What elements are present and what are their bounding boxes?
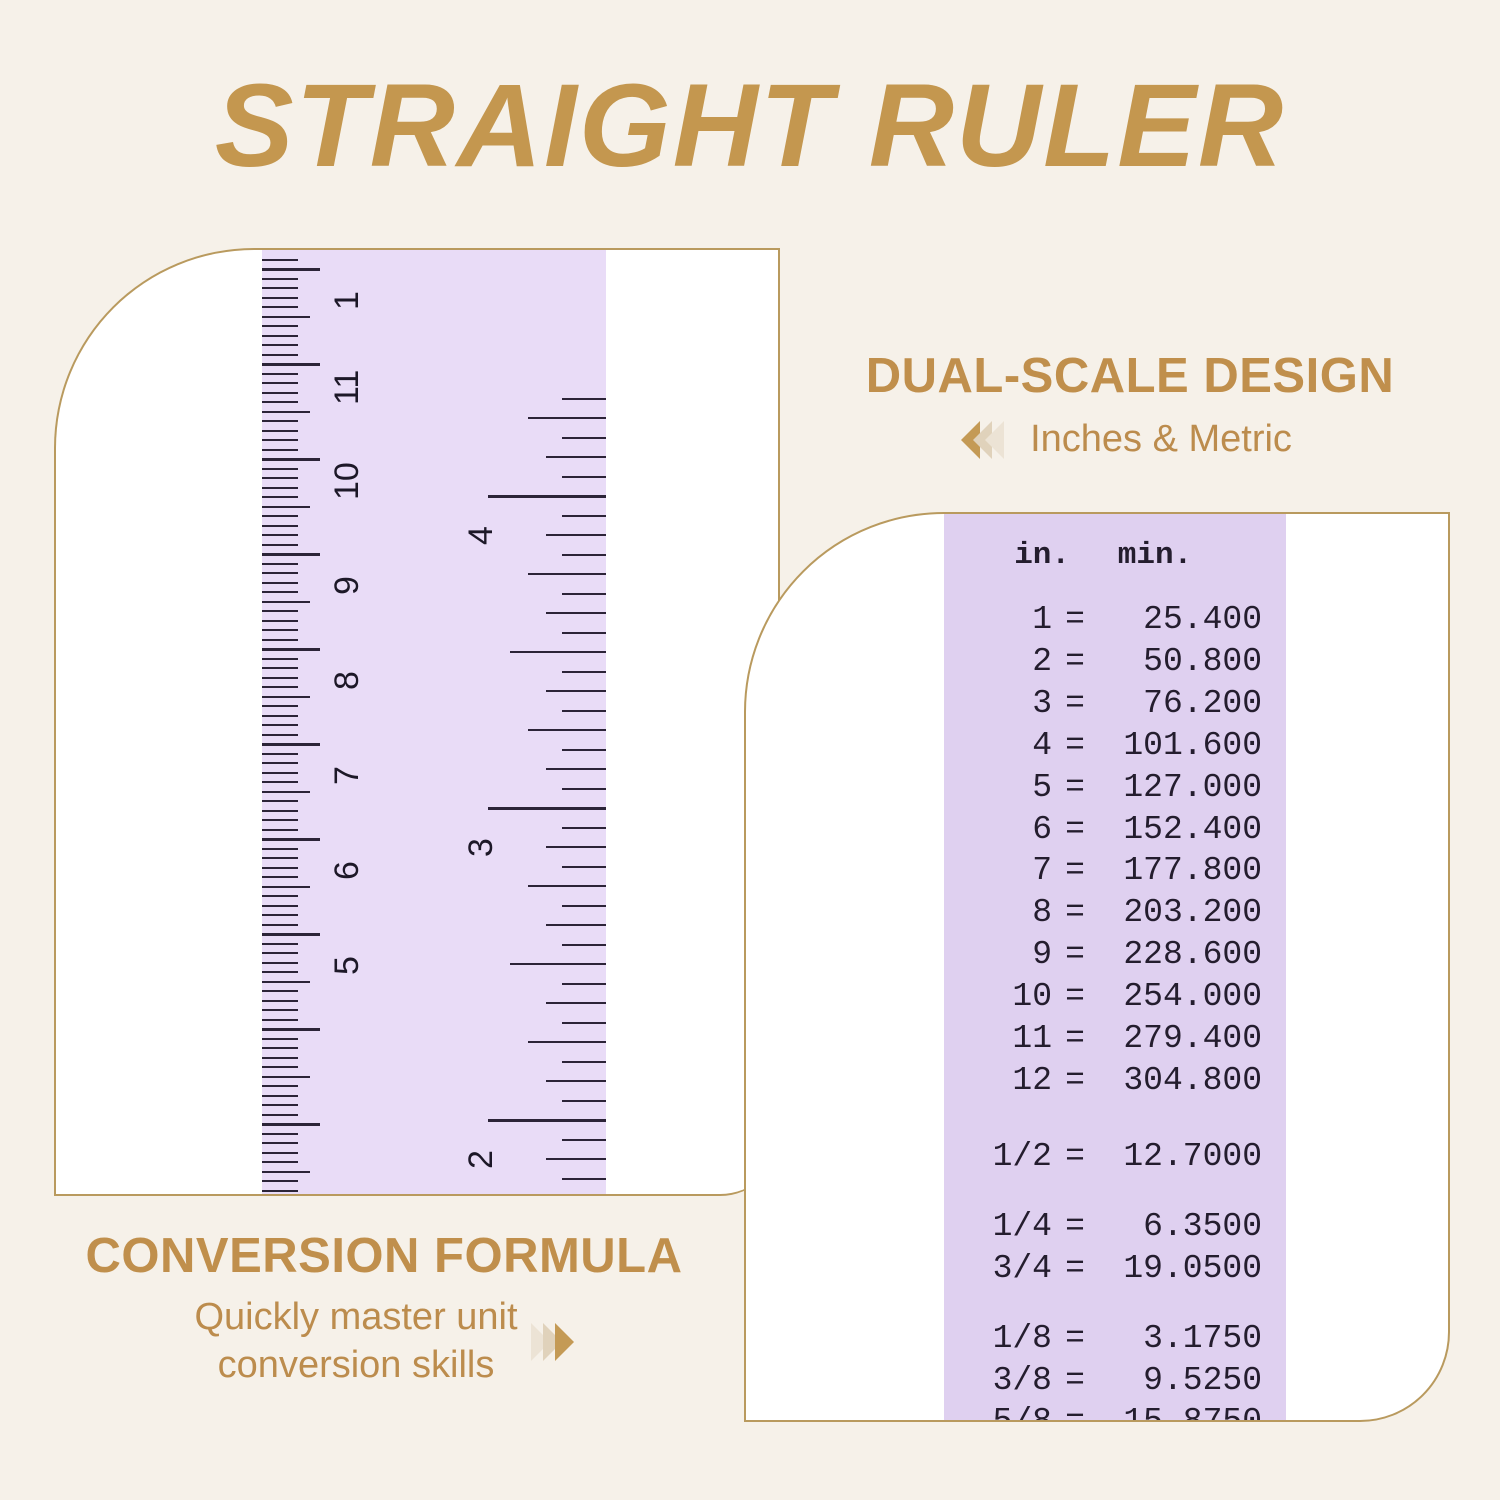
conversion-table-header: in. min. (944, 514, 1286, 599)
ruler-tick (262, 553, 320, 556)
ruler-tick (262, 857, 298, 859)
ruler-tick (488, 1119, 606, 1122)
ruler-number: 3 (462, 838, 501, 857)
cell-equals: = (1052, 1360, 1098, 1402)
ruler-tick (262, 914, 298, 916)
ruler-tick (262, 1180, 298, 1182)
ruler-tick (488, 495, 606, 498)
ruler-tick (262, 563, 298, 565)
ruler-tick (262, 420, 298, 422)
ruler-tick (262, 952, 298, 954)
cell-equals: = (1052, 892, 1098, 934)
ruler-tick (546, 924, 606, 926)
ruler-tick (262, 572, 298, 574)
ruler-tick (262, 933, 320, 936)
ruler-tick (528, 573, 606, 575)
dual-scale-subtitle: Inches & Metric (1030, 418, 1292, 461)
ruler-tick (488, 807, 606, 810)
ruler-tick (262, 990, 298, 992)
ruler-tick (262, 534, 298, 536)
ruler-tick (528, 885, 606, 887)
ruler-number: 7 (328, 766, 367, 785)
ruler-tick (262, 819, 298, 821)
cell-equals: = (1052, 1060, 1098, 1102)
ruler-number: 5 (328, 956, 367, 975)
ruler-tick (528, 417, 606, 419)
ruler-tick (262, 601, 310, 603)
table-row: 1=25.400 (944, 599, 1286, 641)
table-row: 10=254.000 (944, 976, 1286, 1018)
ruler-tick (262, 506, 310, 508)
ruler-tick (546, 456, 606, 458)
cell-millimeters: 76.200 (1098, 683, 1278, 725)
ruler-number: 8 (328, 671, 367, 690)
ruler-tick (528, 729, 606, 731)
cell-equals: = (1052, 934, 1098, 976)
column-header-millimeters: min. (1070, 538, 1240, 573)
ruler-tick (262, 496, 298, 498)
ruler-tick (546, 1158, 606, 1160)
table-row: 1/4=6.3500 (944, 1206, 1286, 1248)
ruler-tick (562, 827, 606, 829)
ruler-tick (262, 1152, 298, 1154)
cell-inches: 5 (944, 767, 1052, 809)
cell-inches: 1/2 (944, 1136, 1052, 1178)
ruler-tick (528, 1041, 606, 1043)
cell-millimeters: 279.400 (1098, 1018, 1278, 1060)
ruler-tick (262, 268, 320, 271)
cell-inches: 1 (944, 599, 1052, 641)
ruler-tick (262, 848, 298, 850)
ruler-number: 1 (328, 291, 367, 310)
ruler-tick (262, 458, 320, 461)
ruler-tick (546, 612, 606, 614)
cell-millimeters: 19.0500 (1098, 1248, 1278, 1290)
cell-equals: = (1052, 850, 1098, 892)
ruler-tick (262, 1095, 298, 1097)
ruler-tick (262, 259, 298, 261)
cell-inches: 3/4 (944, 1248, 1052, 1290)
ruler-tick (562, 1139, 606, 1141)
conversion-table-body: 1=25.4002=50.8003=76.2004=101.6005=127.0… (944, 599, 1286, 1420)
ruler-tick (546, 1002, 606, 1004)
ruler-tick (546, 846, 606, 848)
ruler-tick (262, 544, 298, 546)
table-row: 1/2=12.7000 (944, 1136, 1286, 1178)
ruler-tick (262, 306, 298, 308)
cell-inches: 1/4 (944, 1206, 1052, 1248)
ruler-tick (262, 1019, 298, 1021)
ruler-tick (262, 677, 298, 679)
ruler-tick (262, 1190, 298, 1192)
ruler-tick (262, 610, 298, 612)
ruler-tick (262, 639, 298, 641)
ruler-tick (562, 788, 606, 790)
ruler-tick (262, 1038, 298, 1040)
ruler-tick (262, 648, 320, 651)
ruler-tick (262, 772, 298, 774)
ruler-tick (262, 1000, 298, 1002)
ruler-tick (262, 316, 310, 318)
ruler-tick (562, 866, 606, 868)
ruler-tick (262, 667, 298, 669)
cell-inches: 5/8 (944, 1401, 1052, 1420)
cell-inches: 7 (944, 850, 1052, 892)
cell-millimeters: 203.200 (1098, 892, 1278, 934)
ruler-tick (262, 981, 310, 983)
ruler-tick (562, 1100, 606, 1102)
ruler-tick (262, 1047, 298, 1049)
cell-equals: = (1052, 725, 1098, 767)
ruler-tick (262, 895, 298, 897)
ruler-tick (562, 944, 606, 946)
conversion-table-image: in. min. 1=25.4002=50.8003=76.2004=101.6… (944, 514, 1286, 1420)
cell-inches: 10 (944, 976, 1052, 1018)
cell-millimeters: 228.600 (1098, 934, 1278, 976)
ruler-tick (262, 1142, 298, 1144)
page-title: STRAIGHT RULER (0, 58, 1500, 194)
ruler-tick (262, 468, 298, 470)
cell-millimeters: 152.400 (1098, 809, 1278, 851)
dual-scale-heading: DUAL-SCALE DESIGN (820, 348, 1440, 404)
ruler-tick (510, 963, 606, 965)
ruler-tick (546, 534, 606, 536)
ruler-tick (262, 1028, 320, 1031)
ruler-tick (562, 398, 606, 400)
ruler-tick (262, 1104, 298, 1106)
conversion-formula-subtitle: Quickly master unit conversion skills (194, 1294, 517, 1389)
ruler-tick (262, 1123, 320, 1126)
ruler-tick (262, 829, 298, 831)
cell-equals: = (1052, 641, 1098, 683)
ruler-tick (262, 886, 310, 888)
conversion-subtitle-line-2: conversion skills (218, 1344, 495, 1386)
column-header-inches: in. (944, 538, 1070, 573)
conversion-table: in. min. 1=25.4002=50.8003=76.2004=101.6… (944, 514, 1286, 1420)
ruler-number: 4 (462, 526, 501, 545)
cell-millimeters: 9.5250 (1098, 1360, 1278, 1402)
cell-inches: 4 (944, 725, 1052, 767)
table-group-spacer (944, 1290, 1286, 1318)
cell-equals: = (1052, 1318, 1098, 1360)
ruler-tick (546, 1080, 606, 1082)
ruler-tick (262, 392, 298, 394)
ruler-tick (262, 477, 298, 479)
ruler-tick (562, 671, 606, 673)
conversion-subtitle-line-1: Quickly master unit (194, 1296, 517, 1338)
ruler-tick (262, 487, 298, 489)
ruler-tick (262, 753, 298, 755)
ruler-number: 11 (328, 370, 367, 405)
cell-inches: 3 (944, 683, 1052, 725)
ruler-tick (546, 768, 606, 770)
cell-equals: = (1052, 683, 1098, 725)
cell-equals: = (1052, 1136, 1098, 1178)
ruler-tick (262, 287, 298, 289)
ruler-tick (262, 344, 298, 346)
table-row: 5=127.000 (944, 767, 1286, 809)
ruler-tick (262, 943, 298, 945)
table-group-spacer (944, 1102, 1286, 1136)
ruler-tick (262, 971, 298, 973)
ruler-tick (262, 591, 298, 593)
cell-millimeters: 101.600 (1098, 725, 1278, 767)
ruler-tick (262, 658, 298, 660)
table-row: 12=304.800 (944, 1060, 1286, 1102)
cell-millimeters: 15.8750 (1098, 1401, 1278, 1420)
ruler-tick (262, 810, 298, 812)
table-row: 6=152.400 (944, 809, 1286, 851)
ruler-tick (262, 325, 298, 327)
ruler-number: 9 (328, 576, 367, 595)
cell-millimeters: 25.400 (1098, 599, 1278, 641)
ruler-tick (262, 800, 298, 802)
ruler-number: 6 (328, 861, 367, 880)
ruler-tick (262, 1057, 298, 1059)
ruler-tick (562, 632, 606, 634)
ruler-tick (262, 582, 298, 584)
table-row: 8=203.200 (944, 892, 1286, 934)
ruler-tick (262, 696, 310, 698)
ruler-tick (546, 690, 606, 692)
cell-equals: = (1052, 1401, 1098, 1420)
ruler-tick (562, 476, 606, 478)
cell-millimeters: 12.7000 (1098, 1136, 1278, 1178)
ruler-tick (262, 743, 320, 746)
table-group-spacer (944, 1178, 1286, 1206)
ruler-tick (262, 363, 320, 366)
cell-millimeters: 177.800 (1098, 850, 1278, 892)
table-row: 7=177.800 (944, 850, 1286, 892)
cell-inches: 6 (944, 809, 1052, 851)
cell-inches: 1/8 (944, 1318, 1052, 1360)
ruler-tick (262, 1133, 298, 1135)
ruler-tick (562, 983, 606, 985)
cell-inches: 9 (944, 934, 1052, 976)
cell-inches: 12 (944, 1060, 1052, 1102)
table-row: 3=76.200 (944, 683, 1286, 725)
ruler-tick (262, 724, 298, 726)
ruler-tick (262, 1085, 298, 1087)
ruler-tick (262, 1009, 298, 1011)
table-row: 3/8=9.5250 (944, 1360, 1286, 1402)
cell-inches: 2 (944, 641, 1052, 683)
ruler-tick (262, 867, 298, 869)
ruler-tick (262, 335, 298, 337)
dual-scale-feature: DUAL-SCALE DESIGN Inches & Metric (820, 348, 1440, 461)
table-row: 9=228.600 (944, 934, 1286, 976)
cell-equals: = (1052, 1248, 1098, 1290)
ruler-tick (562, 905, 606, 907)
ruler-tick (262, 297, 298, 299)
ruler-tick (262, 838, 320, 841)
ruler-tick (562, 710, 606, 712)
ruler-number: 2 (462, 1150, 501, 1169)
ruler-tick (262, 278, 298, 280)
table-row: 3/4=19.0500 (944, 1248, 1286, 1290)
ruler-tick (262, 354, 298, 356)
ruler-tick (562, 1178, 606, 1180)
cell-millimeters: 50.800 (1098, 641, 1278, 683)
cell-equals: = (1052, 1018, 1098, 1060)
ruler-tick (262, 1114, 298, 1116)
ruler-tick (562, 515, 606, 517)
ruler-tick (262, 1076, 310, 1078)
ruler-tick (562, 437, 606, 439)
ruler-tick (262, 905, 298, 907)
ruler-tick (510, 651, 606, 653)
ruler-tick (262, 762, 298, 764)
ruler-tick (262, 924, 298, 926)
table-row: 1/8=3.1750 (944, 1318, 1286, 1360)
ruler-tick (262, 1171, 310, 1173)
conversion-formula-feature: CONVERSION FORMULA Quickly master unit c… (34, 1228, 734, 1389)
ruler-tick (262, 962, 298, 964)
table-row: 4=101.600 (944, 725, 1286, 767)
ruler-tick (262, 876, 298, 878)
chevron-left-icon (968, 421, 1004, 459)
ruler-tick (262, 449, 298, 451)
ruler-tick (262, 686, 298, 688)
ruler-tick (262, 629, 298, 631)
table-row: 11=279.400 (944, 1018, 1286, 1060)
ruler-tick (262, 620, 298, 622)
ruler-tick (262, 515, 298, 517)
cell-millimeters: 3.1750 (1098, 1318, 1278, 1360)
ruler-tick (262, 373, 298, 375)
ruler-tick (262, 525, 298, 527)
ruler-tick (562, 1061, 606, 1063)
table-row: 2=50.800 (944, 641, 1286, 683)
cell-equals: = (1052, 809, 1098, 851)
ruler-tick (262, 734, 298, 736)
conversion-formula-heading: CONVERSION FORMULA (34, 1228, 734, 1284)
cell-equals: = (1052, 976, 1098, 1018)
ruler-tick (262, 430, 298, 432)
cell-millimeters: 304.800 (1098, 1060, 1278, 1102)
ruler-tick (262, 715, 298, 717)
ruler-tick (562, 593, 606, 595)
cell-equals: = (1052, 599, 1098, 641)
ruler-tick (262, 411, 310, 413)
ruler-tick (562, 749, 606, 751)
ruler-tick (262, 1066, 298, 1068)
cell-equals: = (1052, 1206, 1098, 1248)
ruler-tick (262, 439, 298, 441)
ruler-tick (262, 791, 310, 793)
ruler-image: 1111098765432 (262, 250, 606, 1194)
cell-inches: 3/8 (944, 1360, 1052, 1402)
ruler-tick (262, 781, 298, 783)
cell-millimeters: 6.3500 (1098, 1206, 1278, 1248)
cell-inches: 11 (944, 1018, 1052, 1060)
cell-inches: 8 (944, 892, 1052, 934)
ruler-tick (262, 401, 298, 403)
cell-equals: = (1052, 767, 1098, 809)
ruler-tick (262, 1161, 298, 1163)
ruler-tick (562, 1022, 606, 1024)
chevron-right-icon (538, 1323, 574, 1361)
ruler-tick (562, 554, 606, 556)
ruler-tick (262, 382, 298, 384)
cell-millimeters: 254.000 (1098, 976, 1278, 1018)
table-row: 5/8=15.8750 (944, 1401, 1286, 1420)
ruler-number: 10 (328, 462, 367, 500)
ruler-tick (262, 705, 298, 707)
cell-millimeters: 127.000 (1098, 767, 1278, 809)
